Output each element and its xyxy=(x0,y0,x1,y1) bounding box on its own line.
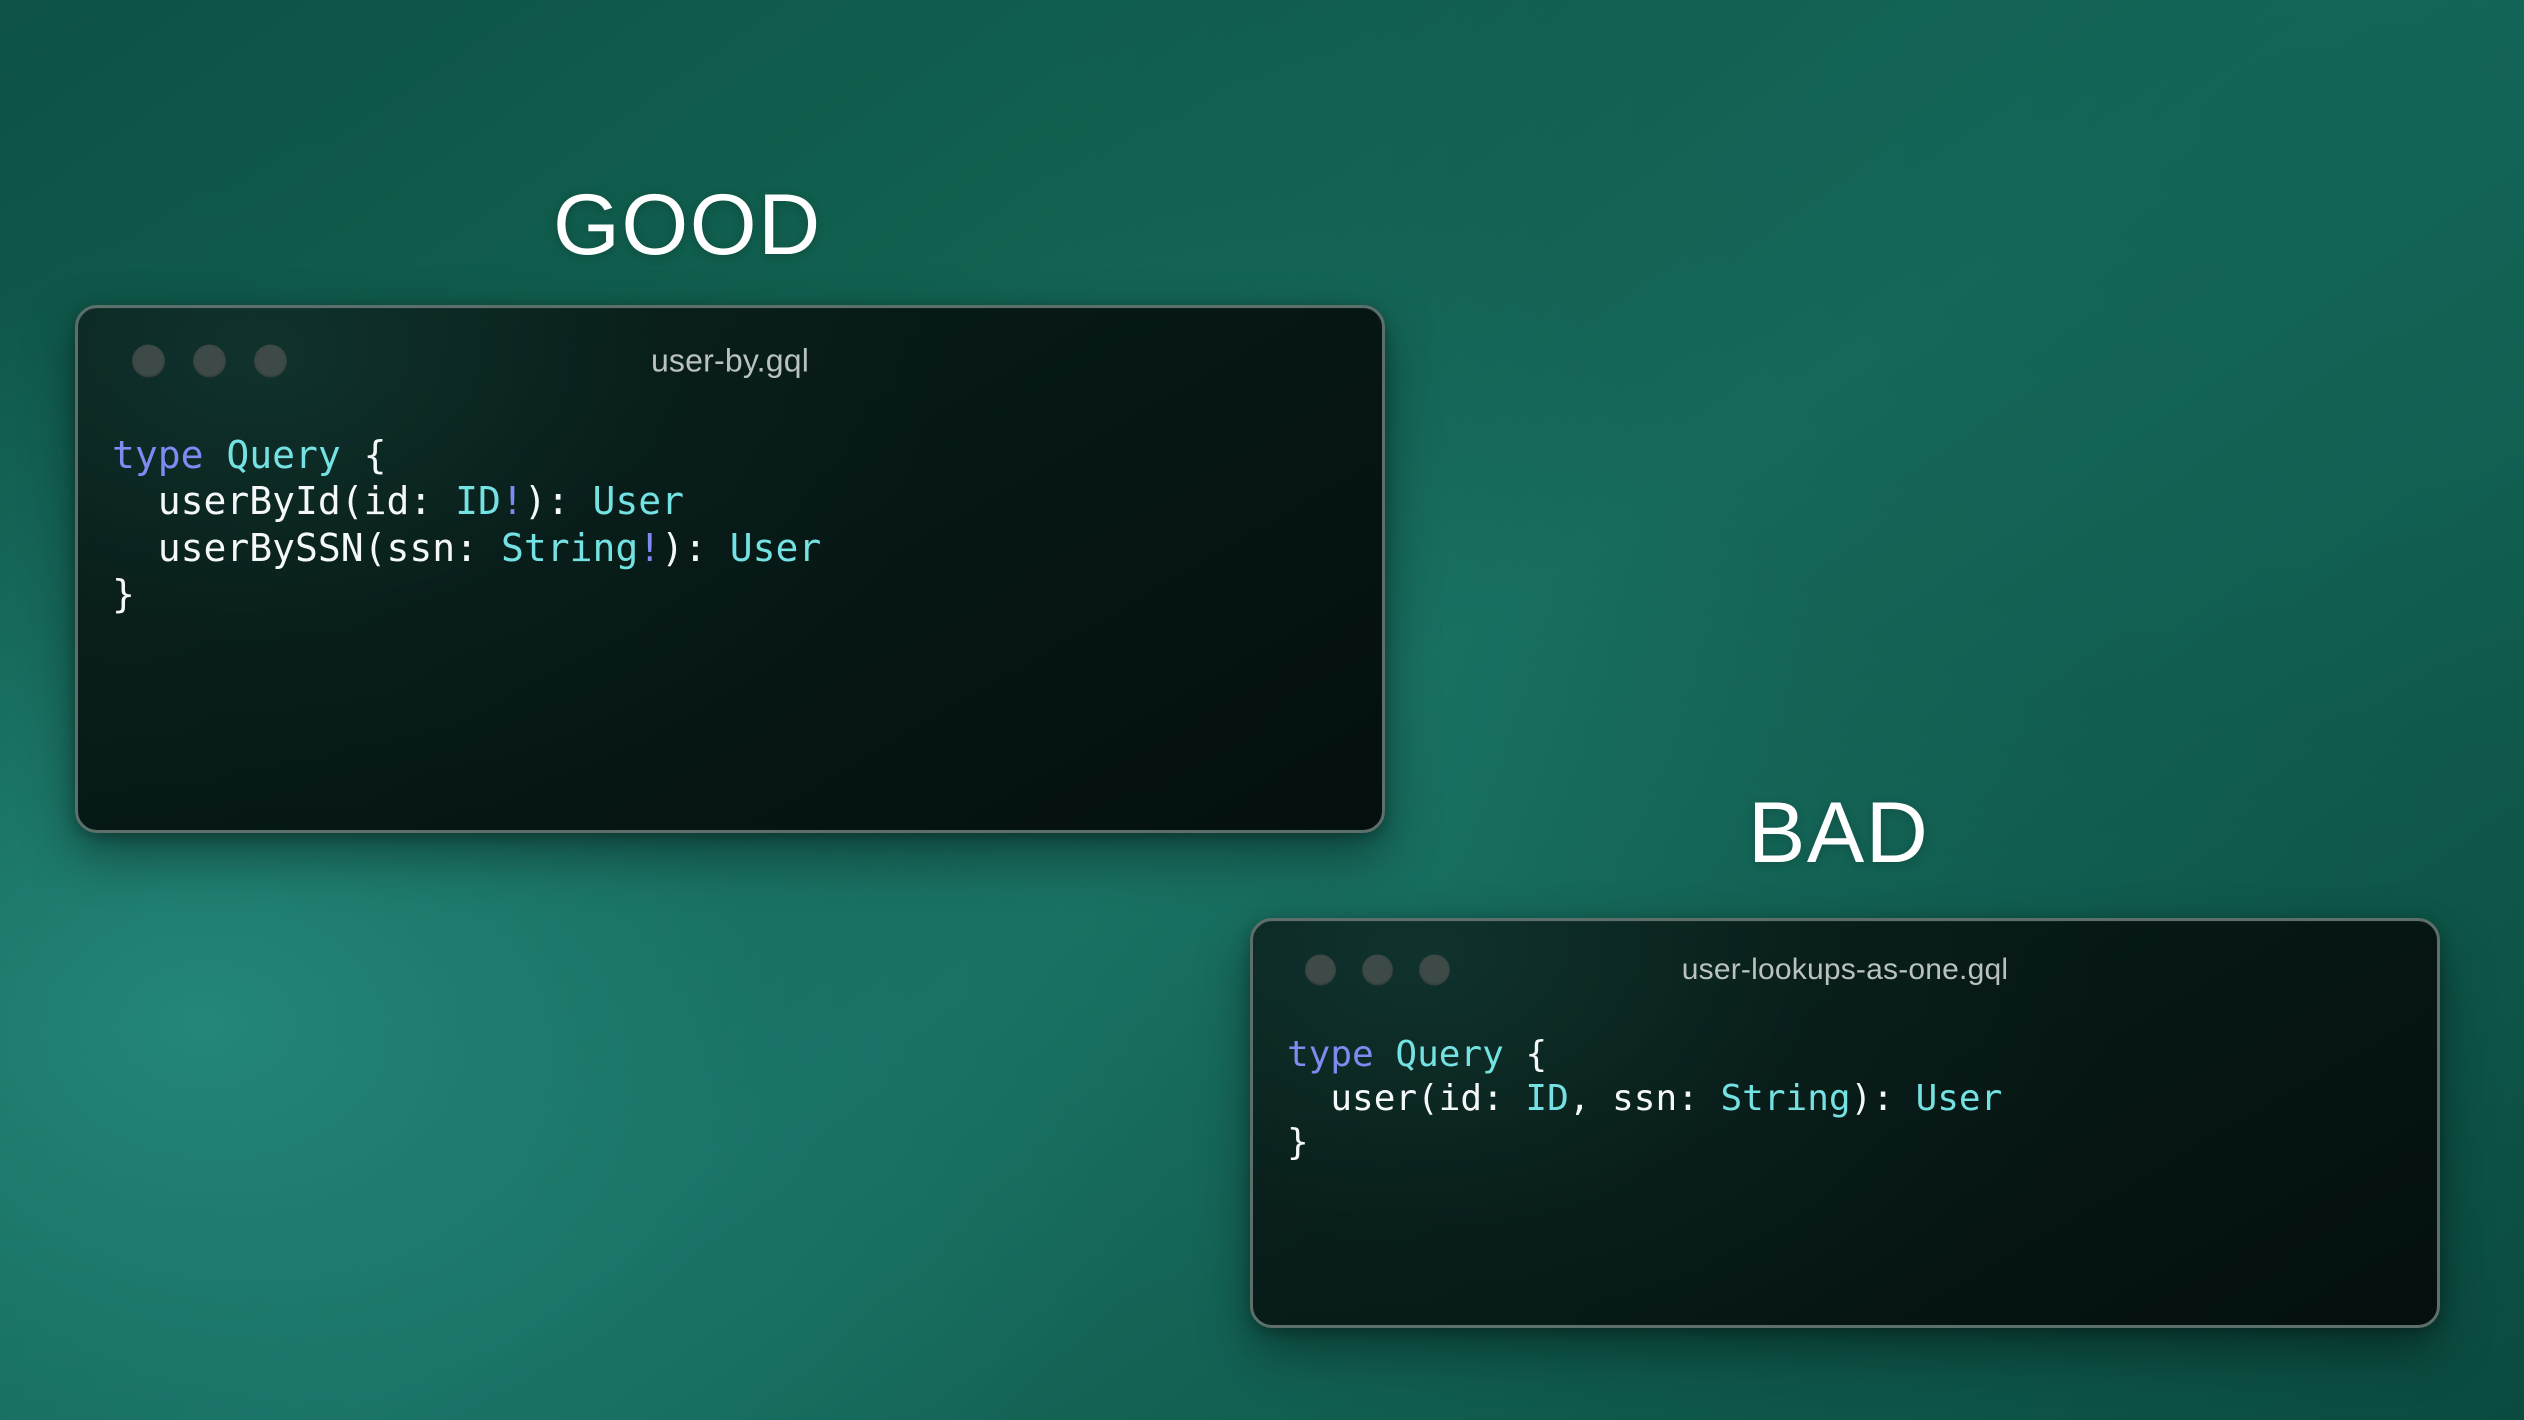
code-token-type: Query xyxy=(226,433,340,477)
code-token-plain: ): xyxy=(1851,1078,1916,1119)
window-controls-good xyxy=(132,345,287,378)
window-dot-close-icon[interactable] xyxy=(1305,955,1336,986)
code-line: } xyxy=(1287,1121,2437,1165)
code-token-plain xyxy=(204,433,227,477)
code-token-plain: ): xyxy=(524,479,593,523)
code-token-type: ID xyxy=(1525,1078,1568,1119)
code-token-bang: ! xyxy=(501,479,524,523)
window-titlebar-bad: user-lookups-as-one.gql xyxy=(1253,921,2437,1019)
code-line: } xyxy=(112,571,1382,617)
code-token-plain: user(id: xyxy=(1287,1078,1525,1119)
code-token-plain: { xyxy=(1504,1034,1547,1075)
code-token-plain: } xyxy=(1287,1122,1309,1163)
code-token-plain: userById(id: xyxy=(112,479,455,523)
code-line: userBySSN(ssn: String!): User xyxy=(112,525,1382,571)
code-token-type: User xyxy=(1916,1078,2003,1119)
code-token-type: String xyxy=(1721,1078,1851,1119)
code-line: type Query { xyxy=(112,432,1382,478)
window-titlebar-good: user-by.gql xyxy=(78,308,1382,414)
window-dot-close-icon[interactable] xyxy=(132,345,165,378)
window-dot-minimize-icon[interactable] xyxy=(193,345,226,378)
code-token-type: User xyxy=(592,479,684,523)
code-block-good: type Query { userById(id: ID!): User use… xyxy=(78,414,1382,617)
code-token-keyword: type xyxy=(112,433,204,477)
code-window-good: user-by.gql type Query { userById(id: ID… xyxy=(75,305,1385,833)
code-token-type: Query xyxy=(1395,1034,1503,1075)
bad-example-label: BAD xyxy=(1748,790,1929,876)
code-token-plain: , ssn: xyxy=(1569,1078,1721,1119)
comparison-slide: GOOD user-by.gql type Query { userById(i… xyxy=(0,0,2524,1420)
code-token-plain: userBySSN(ssn: xyxy=(112,526,501,570)
window-dot-maximize-icon[interactable] xyxy=(1419,955,1450,986)
code-token-plain: { xyxy=(341,433,387,477)
code-token-bang: ! xyxy=(638,526,661,570)
code-token-plain: ): xyxy=(661,526,730,570)
code-token-plain: } xyxy=(112,572,135,616)
code-line: type Query { xyxy=(1287,1033,2437,1077)
code-token-keyword: type xyxy=(1287,1034,1374,1075)
code-block-bad: type Query { user(id: ID, ssn: String): … xyxy=(1253,1019,2437,1165)
code-line: user(id: ID, ssn: String): User xyxy=(1287,1077,2437,1121)
code-token-type: ID xyxy=(455,479,501,523)
code-window-bad: user-lookups-as-one.gql type Query { use… xyxy=(1250,918,2440,1328)
code-token-type: User xyxy=(730,526,822,570)
window-dot-maximize-icon[interactable] xyxy=(254,345,287,378)
code-line: userById(id: ID!): User xyxy=(112,478,1382,524)
code-token-plain xyxy=(1374,1034,1396,1075)
window-dot-minimize-icon[interactable] xyxy=(1362,955,1393,986)
window-controls-bad xyxy=(1305,955,1450,986)
code-token-type: String xyxy=(501,526,638,570)
good-example-label: GOOD xyxy=(553,182,822,268)
